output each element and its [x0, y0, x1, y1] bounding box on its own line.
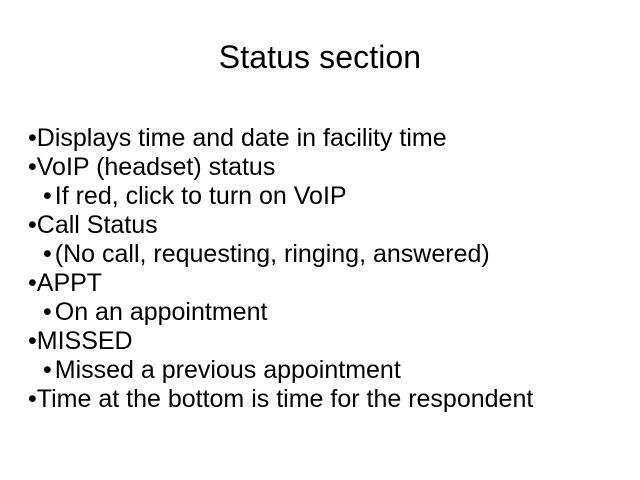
bullet-list: •Displays time and date in facility time… [28, 124, 628, 414]
bullet-icon: • [43, 240, 52, 269]
list-item: •(No call, requesting, ringing, answered… [28, 240, 628, 269]
list-item: •VoIP (headset) status [28, 153, 628, 182]
list-item-label: Missed a previous appointment [55, 356, 401, 384]
page-title: Status section [0, 38, 640, 76]
list-item: •On an appointment [28, 298, 628, 327]
list-item-label: Displays time and date in facility time [37, 124, 447, 152]
bullet-icon: • [28, 211, 37, 240]
list-item: •MISSED [28, 327, 628, 356]
list-item-label: If red, click to turn on VoIP [55, 182, 347, 210]
bullet-icon: • [28, 269, 37, 298]
list-item: •APPT [28, 269, 628, 298]
list-item-label: On an appointment [55, 298, 268, 326]
list-item: •Displays time and date in facility time [28, 124, 628, 153]
bullet-icon: • [28, 385, 37, 414]
bullet-icon: • [43, 182, 52, 211]
list-item: •Call Status [28, 211, 628, 240]
list-item: •Time at the bottom is time for the resp… [28, 385, 628, 414]
list-item: •If red, click to turn on VoIP [28, 182, 628, 211]
bullet-icon: • [28, 153, 37, 182]
slide-canvas: Status section •Displays time and date i… [0, 0, 640, 480]
list-item-label: VoIP (headset) status [37, 153, 276, 181]
list-item-label: Call Status [37, 211, 158, 239]
list-item-label: (No call, requesting, ringing, answered) [55, 240, 490, 268]
bullet-icon: • [43, 356, 52, 385]
bullet-icon: • [28, 124, 37, 153]
bullet-icon: • [28, 327, 37, 356]
list-item-label: Time at the bottom is time for the respo… [37, 385, 534, 413]
bullet-icon: • [43, 298, 52, 327]
list-item-label: APPT [37, 269, 102, 297]
list-item-label: MISSED [37, 327, 133, 355]
list-item: •Missed a previous appointment [28, 356, 628, 385]
